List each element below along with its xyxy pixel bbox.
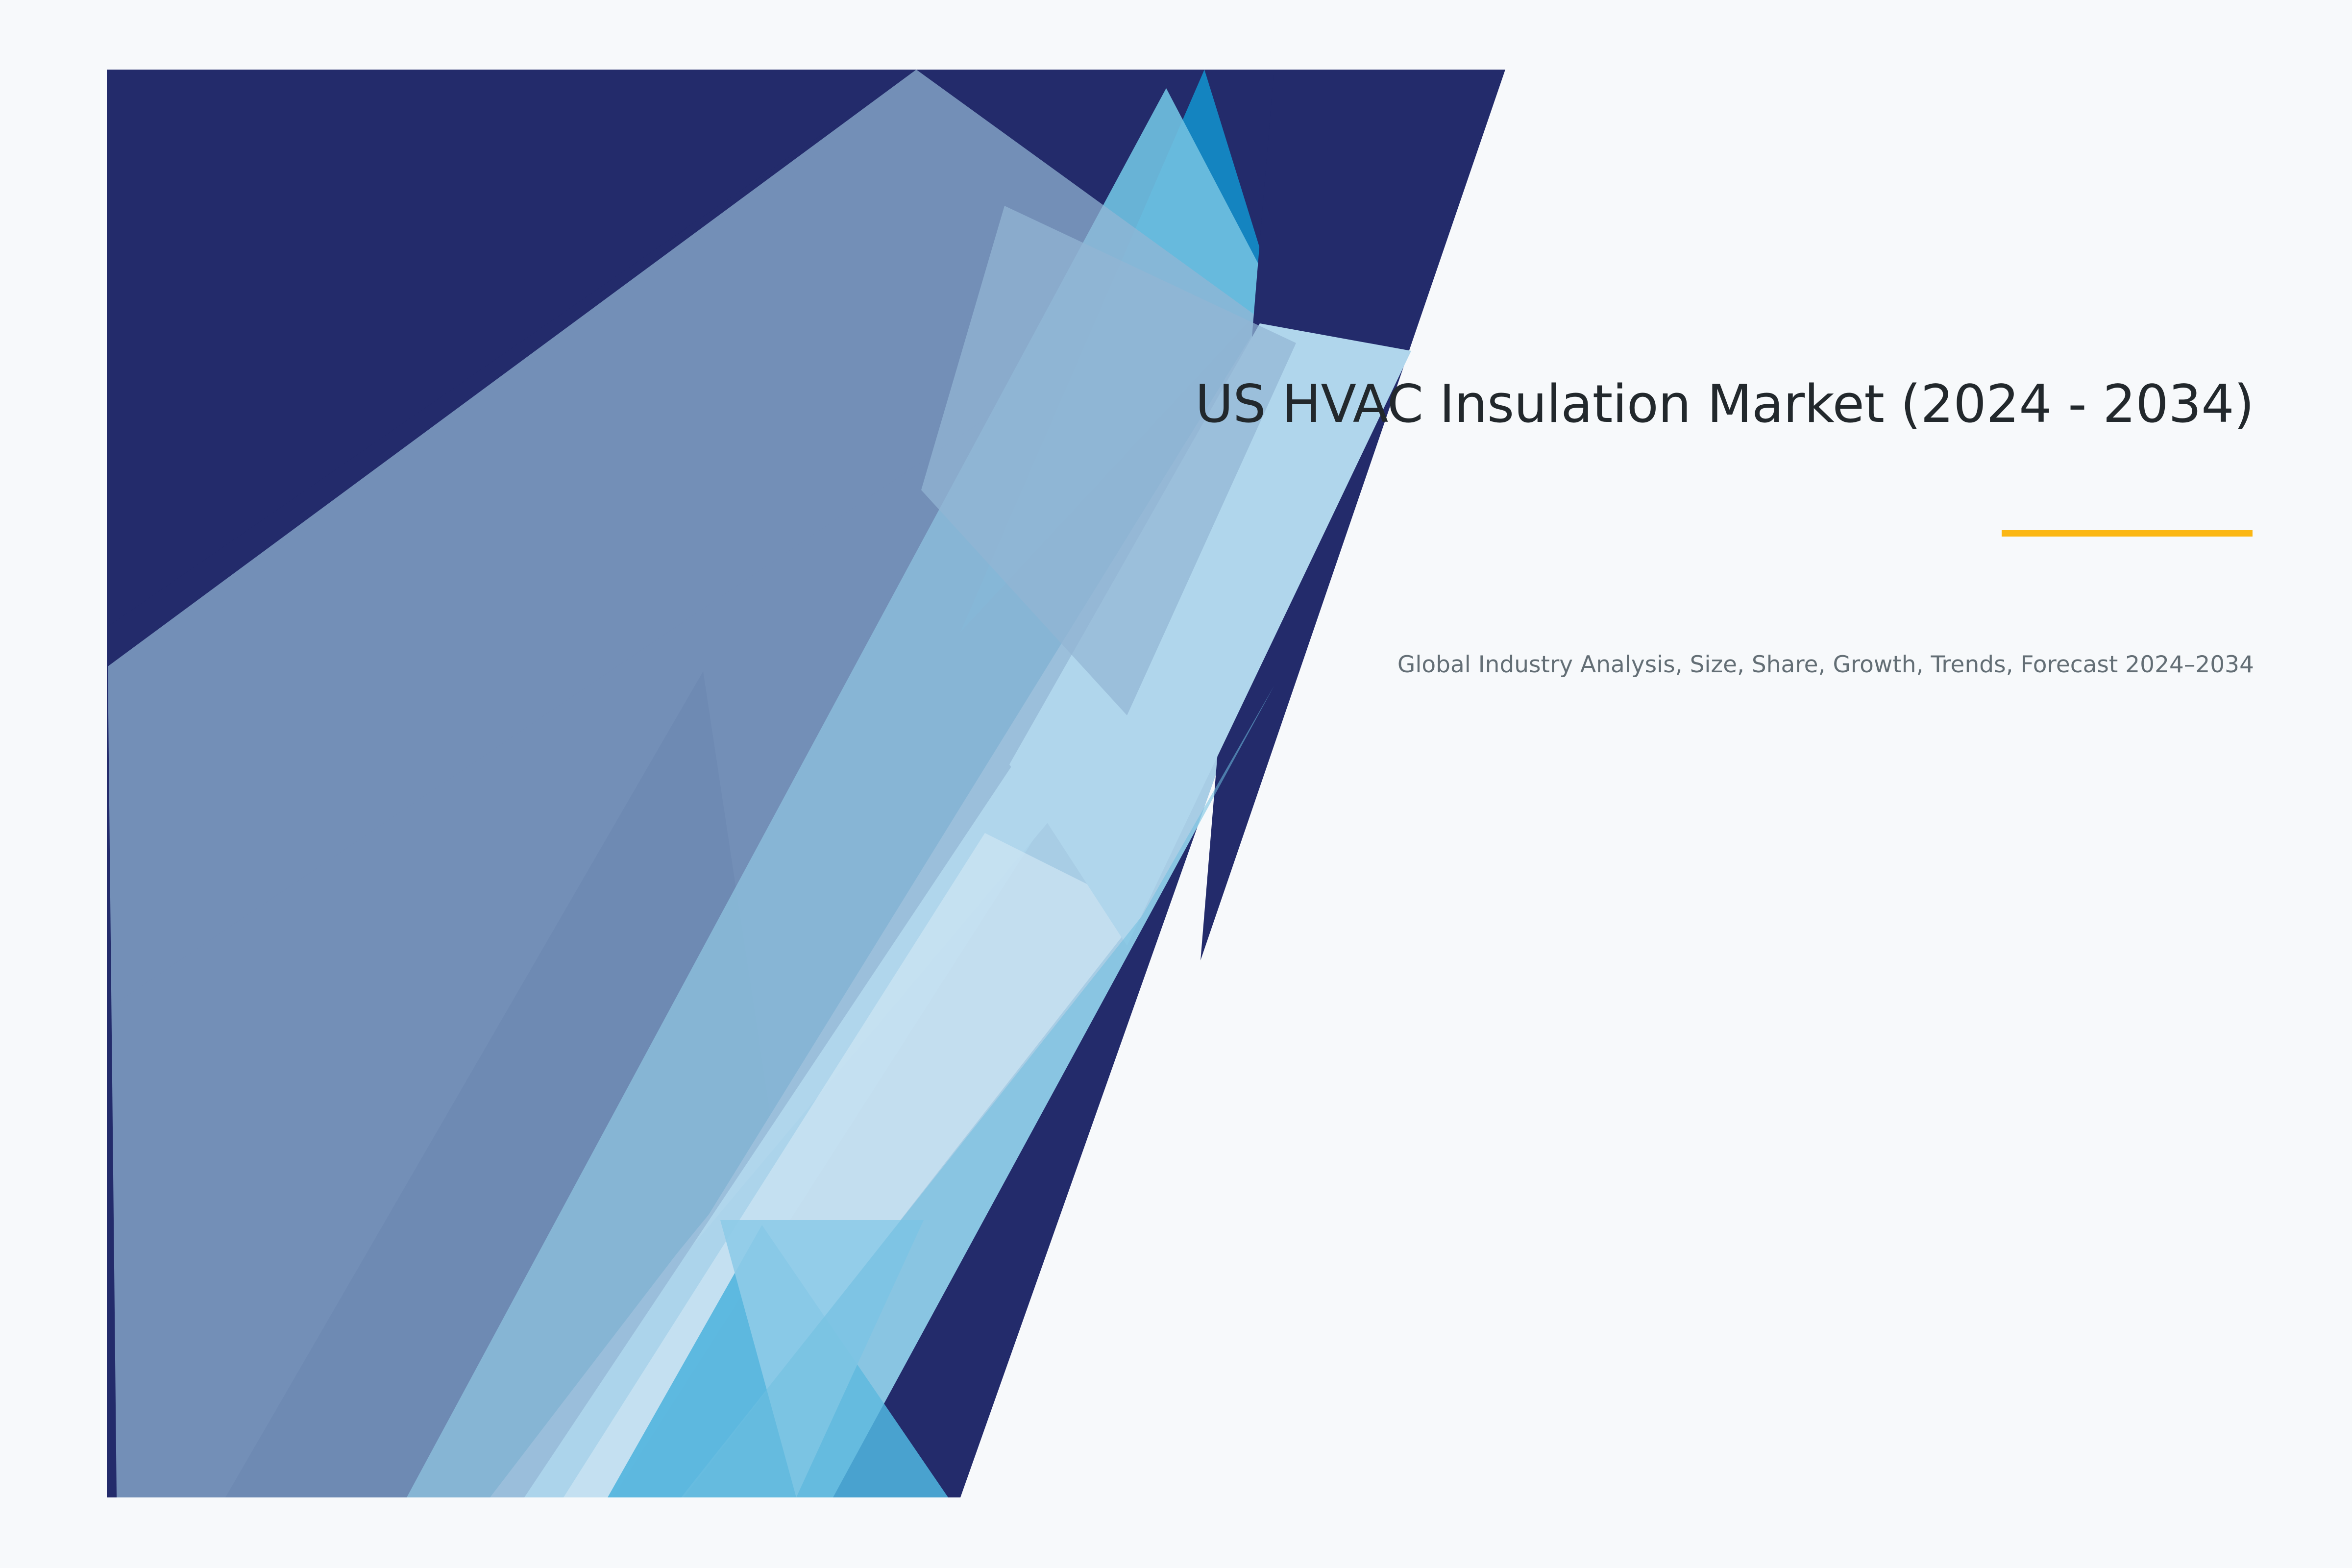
cover-text-block: US HVAC Insulation Market (2024 - 2034) [931,372,2254,436]
page-subtitle: Global Industry Analysis, Size, Share, G… [931,650,2254,680]
title-wrapper: US HVAC Insulation Market (2024 - 2034) [931,372,2254,436]
slide-canvas: US HVAC Insulation Market (2024 - 2034) … [0,0,2352,1568]
title-accent-underline [2002,530,2253,537]
page-title: US HVAC Insulation Market (2024 - 2034) [931,372,2254,436]
abstract-geometric-cover-graphic [0,0,2352,1568]
